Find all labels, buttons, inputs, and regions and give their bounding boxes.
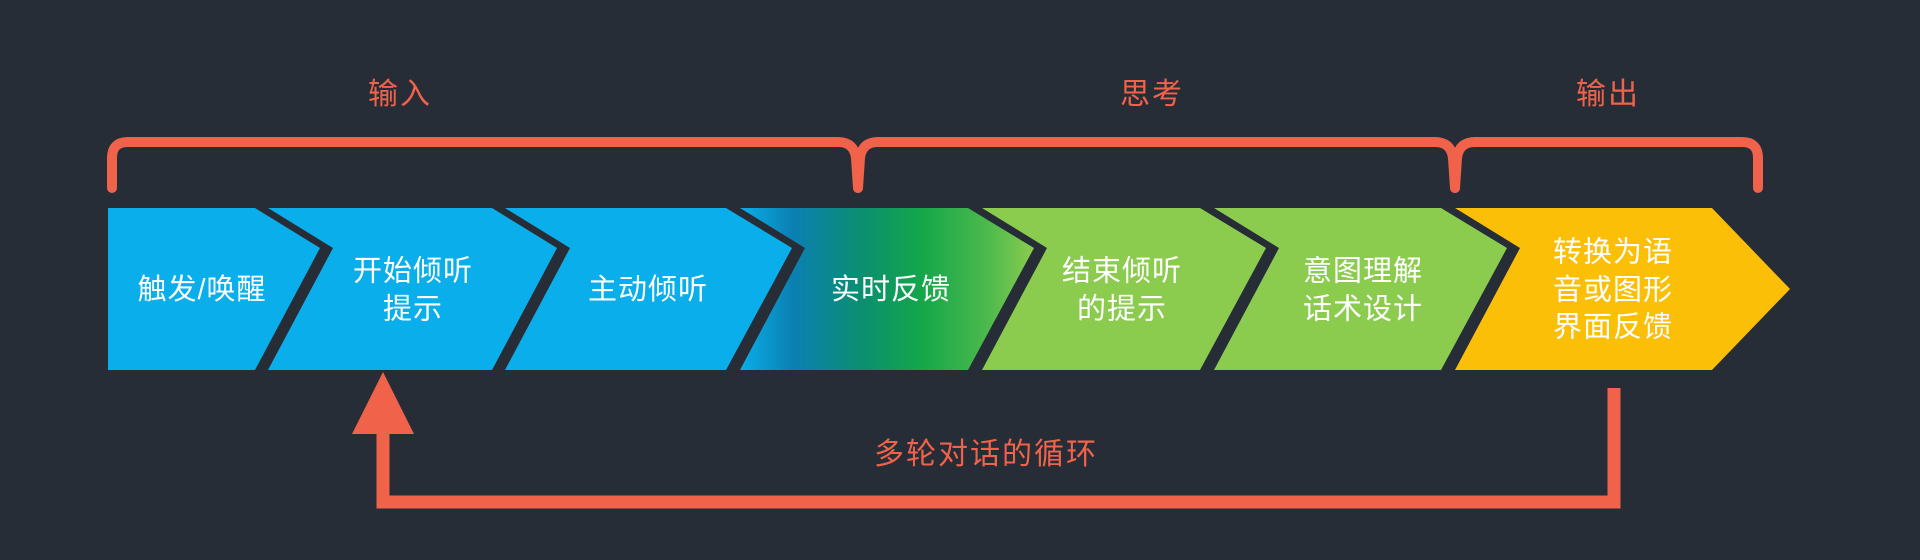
- phase-label-input: 输入: [368, 80, 432, 110]
- process-chevron-row: [108, 208, 1790, 370]
- phase-bracket-group: [112, 142, 1758, 188]
- bracket-output: [1455, 142, 1758, 188]
- bracket-input: [112, 142, 858, 188]
- bracket-think: [858, 142, 1455, 188]
- phase-label-output: 输出: [1576, 80, 1640, 110]
- phase-label-think: 思考: [1120, 80, 1184, 110]
- loop-arrowhead-icon: [352, 372, 414, 434]
- chevron-step-4[interactable]: [740, 208, 1034, 370]
- chevron-step-7[interactable]: [1455, 208, 1790, 370]
- diagram-canvas: 输入 思考 输出 触发/唤醒 开始倾听 提示 主动倾听 实时反馈 结束倾听 的提…: [0, 0, 1920, 560]
- chevron-step-3[interactable]: [505, 208, 792, 370]
- chevron-step-6[interactable]: [1214, 208, 1507, 370]
- feedback-loop-label: 多轮对话的循环: [874, 440, 1098, 470]
- chevron-step-5[interactable]: [982, 208, 1266, 370]
- feedback-loop-path: [352, 372, 1614, 502]
- chevron-step-2[interactable]: [268, 208, 557, 370]
